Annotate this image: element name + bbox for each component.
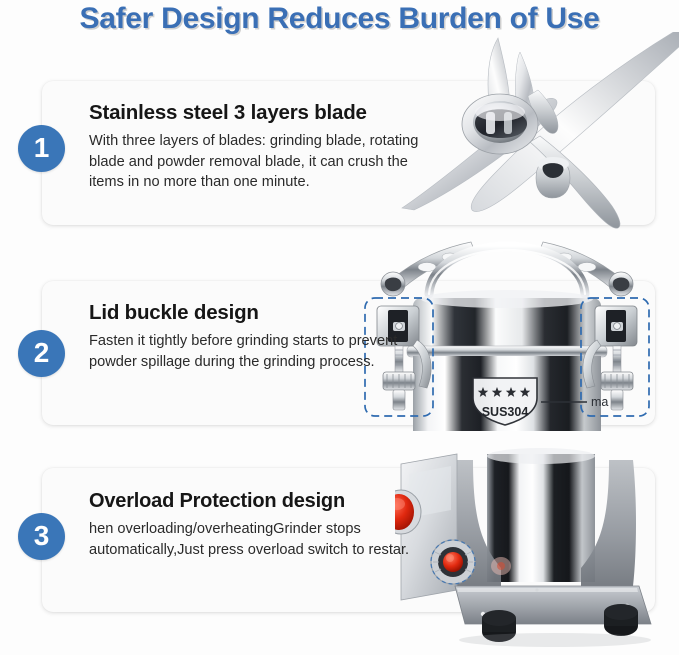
feature-1-heading: Stainless steel 3 layers blade [89, 101, 419, 125]
feature-2-text-block: Lid buckle design Fasten it tightly befo… [89, 301, 419, 372]
feature-number-badge-3: 3 [18, 513, 65, 560]
feature-card-2: Lid buckle design Fasten it tightly befo… [42, 281, 655, 425]
feature-3-heading: Overload Protection design [89, 490, 419, 513]
feature-2-heading: Lid buckle design [89, 301, 419, 325]
feature-number-3: 3 [34, 522, 50, 550]
feature-card-1: Stainless steel 3 layers blade With thre… [42, 81, 655, 225]
feature-1-text-block: Stainless steel 3 layers blade With thre… [89, 101, 419, 193]
feature-number-2: 2 [34, 339, 50, 367]
feature-3-body: hen overloading/overheatingGrinder stops… [89, 519, 419, 560]
feature-2-body: Fasten it tightly before grinding starts… [89, 331, 419, 372]
feature-card-3: Overload Protection design hen overloadi… [42, 468, 655, 612]
feature-number-1: 1 [34, 134, 50, 162]
feature-number-badge-1: 1 [18, 125, 65, 172]
feature-3-text-block: Overload Protection design hen overloadi… [89, 490, 419, 560]
page-title: Safer Design Reduces Burden of Use [0, 2, 679, 36]
feature-1-body: With three layers of blades: grinding bl… [89, 131, 419, 193]
feature-number-badge-2: 2 [18, 330, 65, 377]
